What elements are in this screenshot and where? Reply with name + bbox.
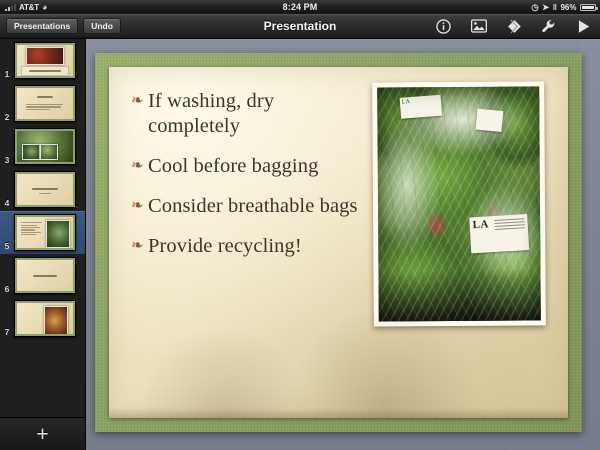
slide-thumbnail-6[interactable]: 6 — [0, 254, 85, 297]
thumbnail-canvas[interactable] — [14, 214, 76, 251]
slide-thumbnail-1[interactable]: 1 — [0, 39, 85, 82]
bullet-text: Consider breathable bags — [148, 194, 358, 219]
status-bar-clock: 8:24 PM — [0, 2, 600, 12]
media-image-icon[interactable] — [470, 18, 487, 35]
bullet-text: Cool before bagging — [148, 154, 318, 179]
toolbar-right-group — [435, 18, 592, 35]
thumbnail-canvas[interactable] — [14, 171, 76, 208]
thumbnail-photo — [26, 47, 64, 65]
info-icon[interactable] — [435, 18, 452, 35]
bullet-ornament-icon: ❧ — [131, 234, 148, 253]
thumbnail-canvas[interactable] — [14, 128, 76, 165]
thumbnail-canvas[interactable] — [14, 257, 76, 294]
current-slide[interactable]: ❧ If washing, dry completely ❧ Cool befo… — [95, 53, 582, 432]
bullet-ornament-icon: ❧ — [131, 194, 148, 213]
slide-thumbnail-7[interactable]: 7 — [0, 297, 85, 340]
slide-number-label: 4 — [0, 198, 14, 211]
slide-thumbnail-3[interactable]: 3 — [0, 125, 85, 168]
shapes-diamond-icon[interactable] — [505, 18, 522, 35]
tools-wrench-icon[interactable] — [540, 18, 557, 35]
undo-button[interactable]: Undo — [83, 18, 121, 34]
location-arrow-icon: ➤ — [542, 3, 549, 12]
battery-icon — [580, 4, 596, 11]
thumbnail-photo — [22, 144, 40, 160]
bullet-ornament-icon: ❧ — [131, 154, 148, 173]
status-bar-right: ◷ ➤ ‖ 96% — [531, 3, 596, 12]
add-slide-button[interactable]: + — [0, 417, 85, 450]
bullet-item[interactable]: ❧ Cool before bagging — [131, 154, 363, 179]
slide-photo-frame[interactable]: LA LA — [372, 81, 546, 326]
bullet-text: Provide recycling! — [148, 234, 302, 259]
thumbnail-photo — [40, 144, 58, 160]
plus-icon: + — [36, 424, 48, 445]
battery-percent-label: 96% — [560, 3, 576, 12]
thumbnail-canvas[interactable] — [14, 300, 76, 337]
bullet-item[interactable]: ❧ Provide recycling! — [131, 234, 363, 259]
thumbnail-canvas[interactable] — [14, 85, 76, 122]
keynote-ipad-app: AT&T ◕ 8:24 PM ◷ ➤ ‖ 96% Presentations U… — [0, 0, 600, 450]
bullet-ornament-icon: ❧ — [131, 89, 148, 108]
bluetooth-icon: ‖ — [553, 3, 557, 12]
slide-thumbnail-list[interactable]: 1 2 — [0, 39, 85, 418]
slide-number-label: 6 — [0, 284, 14, 297]
slide-number-label: 5 — [0, 241, 14, 254]
bullet-text: If washing, dry completely — [148, 89, 363, 139]
bullet-item[interactable]: ❧ If washing, dry completely — [131, 89, 363, 139]
slide-thumbnail-5[interactable]: 5 — [0, 211, 85, 254]
bagged-salad-greens-photo[interactable]: LA LA — [377, 86, 541, 321]
bag-label-lines — [495, 218, 526, 232]
alarm-clock-icon: ◷ — [531, 3, 538, 12]
slide-navigator-sidebar[interactable]: 1 2 — [0, 39, 86, 450]
thumbnail-photo — [46, 220, 70, 248]
slide-paper-background: ❧ If washing, dry completely ❧ Cool befo… — [109, 67, 568, 418]
ios-status-bar: AT&T ◕ 8:24 PM ◷ ➤ ‖ 96% — [0, 0, 600, 14]
slide-thumbnail-2[interactable]: 2 — [0, 82, 85, 125]
thumbnail-canvas[interactable] — [14, 42, 76, 79]
presentations-button[interactable]: Presentations — [6, 18, 78, 34]
bag-label: LA — [399, 95, 441, 119]
slide-thumbnail-4[interactable]: 4 — [0, 168, 85, 211]
thumbnail-photo — [44, 306, 68, 334]
slide-number-label: 3 — [0, 155, 14, 168]
bullet-item[interactable]: ❧ Consider breathable bags — [131, 194, 363, 219]
slide-number-label: 7 — [0, 327, 14, 340]
play-presentation-icon[interactable] — [575, 18, 592, 35]
toolbar-left-group: Presentations Undo — [0, 18, 121, 34]
slide-number-label: 1 — [0, 69, 14, 82]
slide-bullet-list[interactable]: ❧ If washing, dry completely ❧ Cool befo… — [131, 89, 363, 274]
bag-label-text: LA — [473, 218, 490, 231]
app-toolbar: Presentations Undo Presentation — [0, 14, 600, 39]
slide-number-label: 2 — [0, 112, 14, 125]
bag-label — [475, 109, 503, 132]
slide-canvas[interactable]: ❧ If washing, dry completely ❧ Cool befo… — [86, 39, 600, 450]
bag-label: LA — [470, 214, 530, 253]
